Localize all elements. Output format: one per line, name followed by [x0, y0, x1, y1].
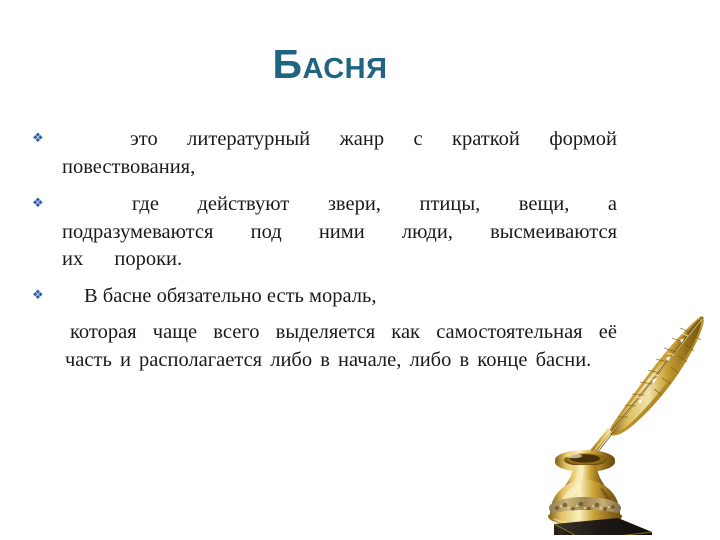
page-title: Басня [40, 40, 620, 88]
slide-body: ❖ это литературный жанр с краткой формой… [32, 126, 617, 374]
list-item-text: где действуют звери, птицы, вещи, а подр… [62, 193, 617, 270]
quill-pen-illustration [540, 310, 720, 535]
list-item: ❖ это литературный жанр с краткой формой… [32, 126, 617, 181]
list-item: ❖ где действуют звери, птицы, вещи, а по… [32, 191, 617, 274]
list-item-text: В басне обязательно есть мораль, [84, 285, 376, 307]
diamond-bullet-icon: ❖ [32, 286, 54, 306]
slide-canvas: Басня ❖ это литературный жанр с краткой … [0, 0, 720, 540]
closing-paragraph-text: которая чаще всего выделяется как самост… [65, 321, 617, 371]
feather-plume-icon [609, 316, 704, 436]
closing-paragraph: которая чаще всего выделяется как самост… [32, 319, 617, 374]
diamond-bullet-icon: ❖ [32, 129, 54, 149]
diamond-bullet-icon: ❖ [32, 194, 54, 214]
list-item: ❖ В басне обязательно есть мораль, [32, 283, 617, 311]
list-item-text: это литературный жанр с краткой формой п… [62, 128, 617, 178]
